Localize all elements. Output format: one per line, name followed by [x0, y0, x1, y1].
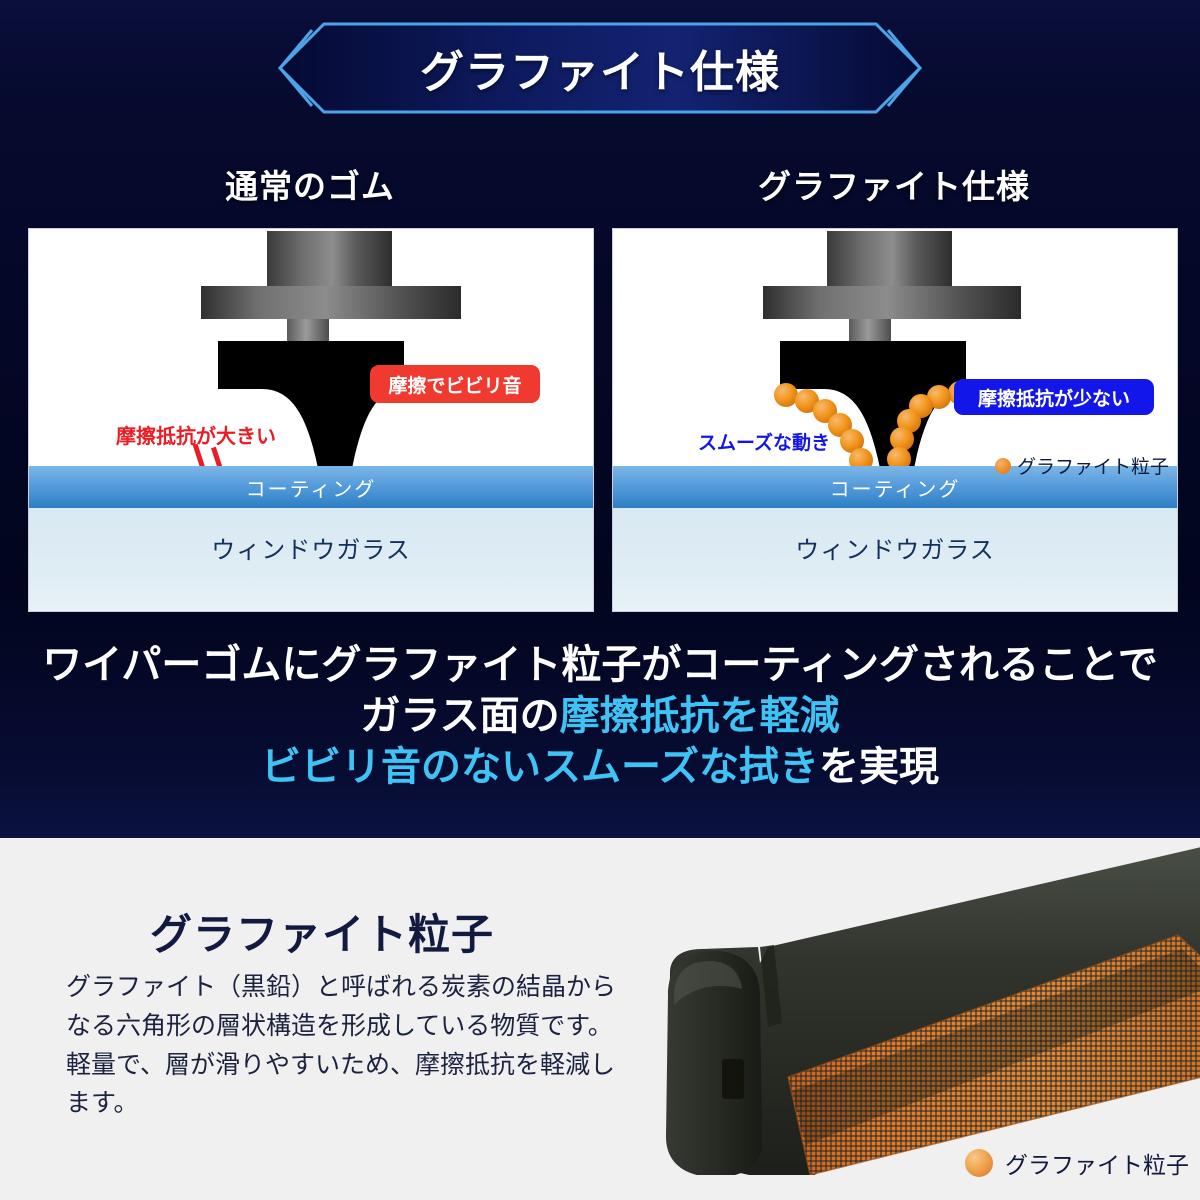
high-friction-arrow-label: 摩擦抵抗が大きい [116, 420, 276, 449]
normal-rubber-diagram-card: コーティング ウィンドウガラス [28, 228, 594, 612]
copy-line-3-highlight-a: ビビリ音のない [261, 745, 541, 789]
copy-line-2-highlight: 摩擦抵抗を軽減 [560, 694, 840, 738]
graphite-section-title: グラファイト粒子 [150, 901, 494, 962]
graphite-section-body: グラファイト（黒鉛）と呼ばれる炭素の結晶からなる六角形の層状構造を形成している物… [66, 968, 626, 1123]
left-coating-layer-label: コーティング [29, 466, 593, 508]
graphite-particle-legend-label: グラファイト粒子 [1005, 1146, 1189, 1180]
graphite-particle-dot-icon [995, 458, 1011, 474]
copy-line-3: ビビリ音のないスムーズな拭きを実現 [0, 742, 1200, 793]
left-panel-heading: 通常のゴム [28, 160, 592, 208]
copy-line-1: ワイパーゴムにグラファイト粒子がコーティングされることで [0, 640, 1200, 691]
smooth-motion-arrow-label: スムーズな動き [698, 428, 830, 455]
friction-noise-badge: 摩擦でビビリ音 [370, 365, 540, 403]
copy-line-3-plain: を実現 [819, 745, 939, 789]
graphite-particle-callout-label: グラファイト粒子 [1017, 452, 1169, 479]
copy-line-2: ガラス面の摩擦抵抗を軽減 [0, 691, 1200, 742]
graphite-particle-callout: グラファイト粒子 [995, 452, 1169, 479]
right-panel-heading: グラファイト仕様 [612, 160, 1176, 208]
copy-line-2-plain: ガラス面の [360, 694, 559, 738]
marketing-copy: ワイパーゴムにグラファイト粒子がコーティングされることで ガラス面の摩擦抵抗を軽… [0, 640, 1200, 794]
right-glass-layer-label: ウィンドウガラス [613, 508, 1177, 611]
left-glass-layer-label: ウィンドウガラス [29, 508, 593, 611]
page-root: グラファイト仕様 通常のゴム グラファイト仕様 [0, 0, 1200, 1200]
low-friction-badge: 摩擦抵抗が少ない [954, 379, 1154, 415]
header-title: グラファイト仕様 [278, 22, 922, 114]
top-section: グラファイト仕様 通常のゴム グラファイト仕様 [0, 0, 1200, 838]
graphite-diagram-card: コーティング ウィンドウガラス [612, 228, 1178, 612]
header-banner: グラファイト仕様 [278, 22, 922, 114]
wiper-blade-photo [610, 845, 1200, 1175]
copy-line-3-highlight-b: スムーズな拭き [541, 745, 819, 789]
graphite-particle-legend-dot-icon [965, 1149, 993, 1177]
graphite-particle-legend: グラファイト粒子 [965, 1146, 1189, 1180]
